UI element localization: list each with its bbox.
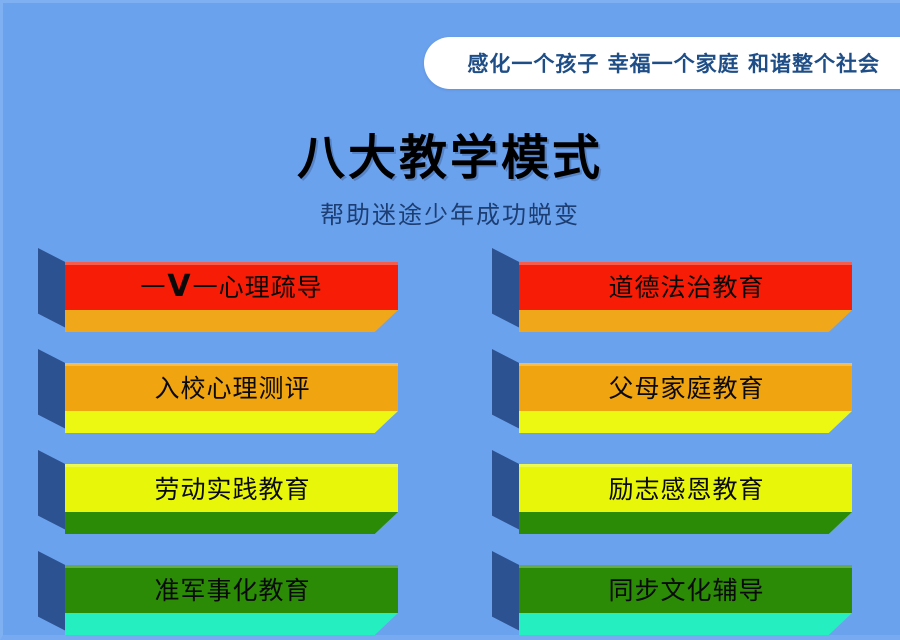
mode-bar-left-1[interactable]: 一V一心理疏导 (38, 248, 398, 328)
poster-canvas: 感化一个孩子 幸福一个家庭 和谐整个社会 八大教学模式 帮助迷途少年成功蜕变 一… (0, 0, 900, 640)
label-part-post: 同步文化辅导 (608, 571, 764, 607)
mode-bar-right-1[interactable]: 道德法治教育 (492, 248, 852, 328)
bar-side-face (492, 349, 520, 429)
mode-bar-label: 一V一心理疏导 (65, 262, 398, 310)
bar-bottom-face (519, 512, 852, 534)
mode-bar-right-3[interactable]: 励志感恩教育 (492, 450, 852, 530)
slogan-banner: 感化一个孩子 幸福一个家庭 和谐整个社会 (424, 37, 900, 89)
bar-bottom-face (65, 512, 398, 534)
label-part-post: 励志感恩教育 (608, 470, 764, 506)
bar-side-face (492, 551, 520, 631)
bar-side-face (38, 349, 66, 429)
mode-bar-left-4[interactable]: 准军事化教育 (38, 551, 398, 631)
mode-bar-label: 道德法治教育 (519, 262, 852, 310)
mode-bar-label: 准军事化教育 (65, 565, 398, 613)
bar-side-face (492, 450, 520, 530)
mode-bar-label: 同步文化辅导 (519, 565, 852, 613)
label-part-post: 劳动实践教育 (154, 470, 310, 506)
label-part-post: 父母家庭教育 (608, 369, 764, 405)
bar-side-face (38, 551, 66, 631)
bar-bottom-face (65, 613, 398, 635)
label-part-post: 道德法治教育 (608, 268, 764, 304)
page-subtitle: 帮助迷途少年成功蜕变 (0, 195, 900, 230)
bar-bottom-face (65, 310, 398, 332)
bar-side-face (38, 450, 66, 530)
label-part-post: 一心理疏导 (193, 268, 323, 304)
label-part-pre: 一 (140, 268, 166, 304)
mode-bar-label: 入校心理测评 (65, 363, 398, 411)
mode-bar-left-3[interactable]: 劳动实践教育 (38, 450, 398, 530)
bar-side-face (492, 248, 520, 328)
label-part-post: 入校心理测评 (154, 369, 310, 405)
mode-bar-label: 励志感恩教育 (519, 464, 852, 512)
bar-bottom-face (519, 613, 852, 635)
bar-bottom-face (519, 310, 852, 332)
label-part-post: 准军事化教育 (154, 571, 310, 607)
mode-bar-right-2[interactable]: 父母家庭教育 (492, 349, 852, 429)
mode-bar-right-4[interactable]: 同步文化辅导 (492, 551, 852, 631)
label-part-latin: V (166, 269, 192, 304)
page-title: 八大教学模式 (0, 118, 900, 188)
mode-bar-left-2[interactable]: 入校心理测评 (38, 349, 398, 429)
bar-side-face (38, 248, 66, 328)
bar-bottom-face (65, 411, 398, 433)
slogan-text: 感化一个孩子 幸福一个家庭 和谐整个社会 (467, 48, 880, 78)
mode-bar-label: 父母家庭教育 (519, 363, 852, 411)
mode-bar-label: 劳动实践教育 (65, 464, 398, 512)
bar-bottom-face (519, 411, 852, 433)
